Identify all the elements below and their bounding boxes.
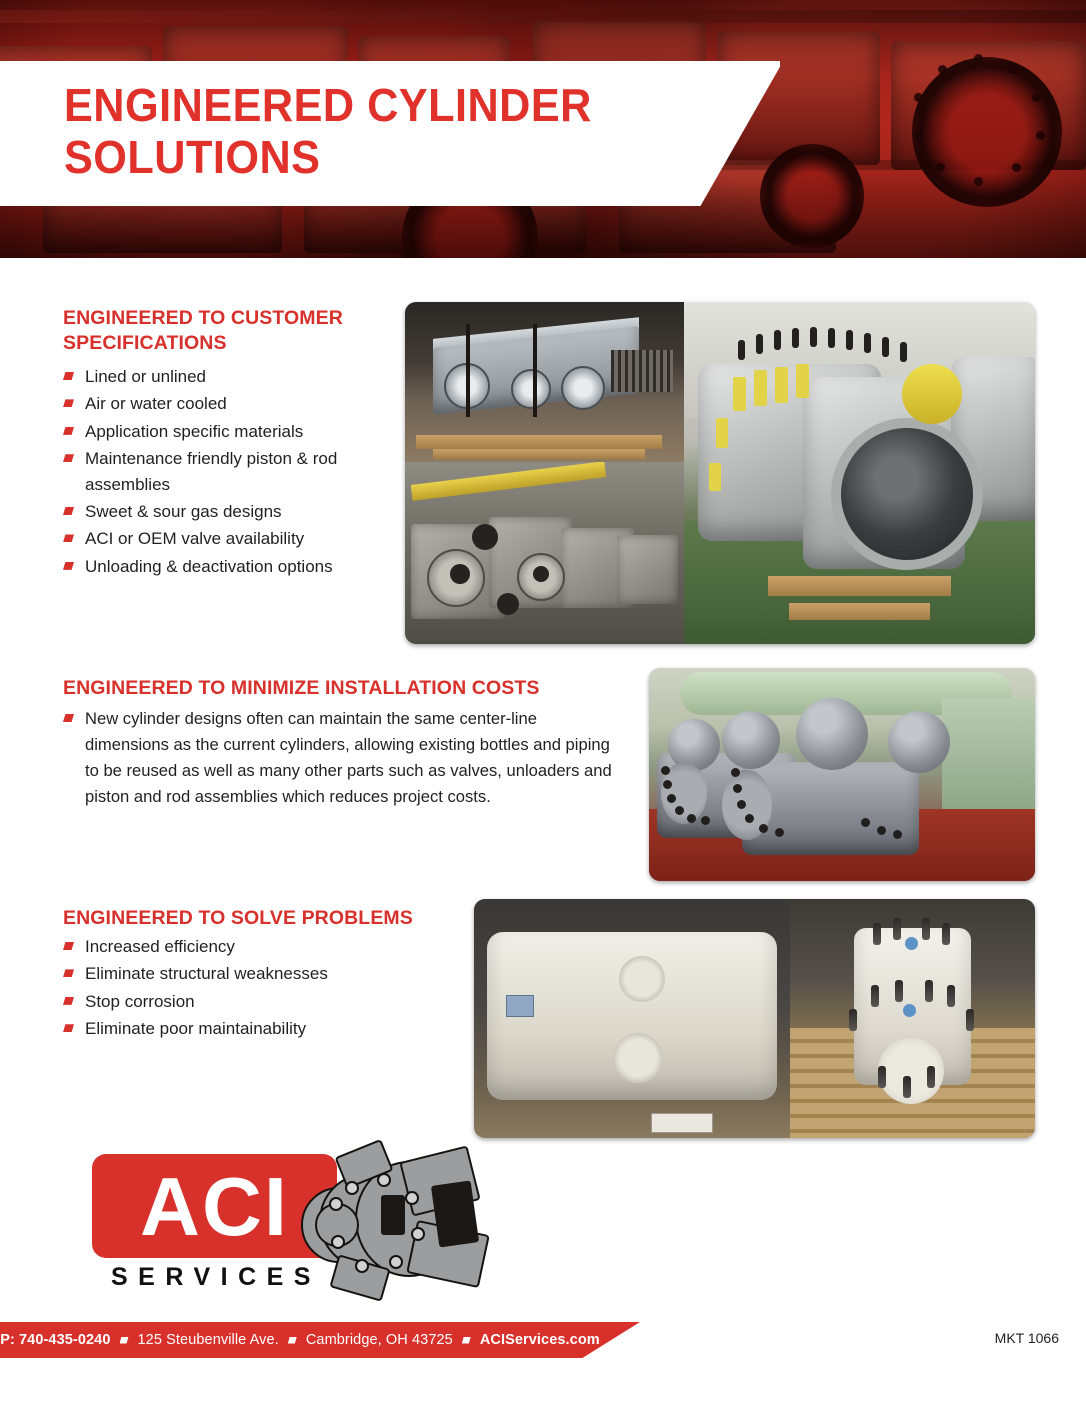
section-3-heading: ENGINEERED TO SOLVE PROBLEMS	[63, 906, 533, 931]
list-item-label: Unloading & deactivation options	[85, 557, 333, 576]
footer-contact-info: P: 740-435-0240 125 Steubenville Ave. Ca…	[0, 1322, 600, 1358]
footer-separator-icon	[288, 1337, 297, 1344]
page-title-line-1: ENGINEERED CYLINDER	[64, 79, 703, 131]
list-item: Unloading & deactivation options	[63, 554, 383, 579]
list-item-label: New cylinder designs often can maintain …	[85, 709, 612, 806]
bullet-marker-icon	[63, 399, 74, 407]
section-2-bullet-list: New cylinder designs often can maintain …	[63, 706, 618, 812]
photo-compressor-cylinders-installed	[649, 668, 1035, 881]
footer-city-state-zip: Cambridge, OH 43725	[306, 1332, 453, 1348]
list-item: New cylinder designs often can maintain …	[63, 706, 618, 810]
bullet-marker-icon	[63, 997, 74, 1005]
list-item-label: Eliminate poor maintainability	[85, 1019, 306, 1038]
page-header: ENGINEERED CYLINDER SOLUTIONS	[0, 0, 1086, 258]
bullet-marker-icon	[63, 1024, 74, 1032]
photo-white-cylinder-side-view	[474, 899, 790, 1138]
section-1-bullet-list: Lined or unlined Air or water cooled App…	[63, 364, 383, 581]
list-item: Sweet & sour gas designs	[63, 499, 383, 524]
list-item-label: Sweet & sour gas designs	[85, 502, 282, 521]
logo-compressor-illustration	[285, 1135, 490, 1303]
list-item: ACI or OEM valve availability	[63, 526, 383, 551]
list-item-label: Increased efficiency	[85, 937, 235, 956]
list-item-label: Application specific materials	[85, 422, 303, 441]
footer-separator-icon	[462, 1337, 471, 1344]
list-item-label: Stop corrosion	[85, 992, 195, 1011]
list-item-label: Maintenance friendly piston & rod assemb…	[85, 449, 337, 493]
section-1-heading-line-1: ENGINEERED TO CUSTOMER	[63, 306, 403, 331]
footer-street: 125 Steubenville Ave.	[138, 1332, 279, 1348]
section-1-heading-line-2: SPECIFICATIONS	[63, 331, 403, 356]
photo-large-cylinder-yellow-covers	[684, 302, 1035, 644]
bullet-marker-icon	[63, 454, 74, 462]
footer-website-link[interactable]: ACIServices.com	[480, 1332, 600, 1348]
section-2-heading: ENGINEERED TO MINIMIZE INSTALLATION COST…	[63, 676, 663, 701]
bullet-marker-icon	[63, 534, 74, 542]
bullet-marker-icon	[63, 942, 74, 950]
list-item: Air or water cooled	[63, 391, 383, 416]
bullet-marker-icon	[63, 507, 74, 515]
photo-machined-valve-bodies	[405, 462, 684, 644]
list-item: Eliminate structural weaknesses	[63, 961, 403, 986]
footer-separator-icon	[120, 1337, 129, 1344]
document-code: MKT 1066	[995, 1330, 1059, 1346]
list-item: Eliminate poor maintainability	[63, 1016, 403, 1041]
section-3-photo-collage	[474, 899, 1035, 1138]
list-item-label: ACI or OEM valve availability	[85, 529, 304, 548]
section-1-heading: ENGINEERED TO CUSTOMER SPECIFICATIONS	[63, 306, 403, 356]
aci-services-logo: ACI SERVICES	[70, 1135, 490, 1310]
bullet-marker-icon	[63, 714, 74, 722]
bullet-marker-icon	[63, 372, 74, 380]
bullet-marker-icon	[63, 562, 74, 570]
list-item: Maintenance friendly piston & rod assemb…	[63, 446, 383, 497]
list-item-label: Eliminate structural weaknesses	[85, 964, 328, 983]
list-item-label: Air or water cooled	[85, 394, 227, 413]
photo-white-cylinder-end-view	[790, 899, 1035, 1138]
list-item-label: Lined or unlined	[85, 367, 206, 386]
title-banner: ENGINEERED CYLINDER SOLUTIONS	[0, 61, 780, 206]
section-2-photo	[649, 668, 1035, 881]
list-item: Application specific materials	[63, 419, 383, 444]
list-item: Increased efficiency	[63, 934, 403, 959]
bullet-marker-icon	[63, 969, 74, 977]
footer-phone: P: 740-435-0240	[0, 1332, 110, 1348]
page-title-line-2: SOLUTIONS	[64, 131, 703, 183]
photo-cylinder-assembly-on-pallet	[405, 302, 684, 462]
bullet-marker-icon	[63, 427, 74, 435]
section-3-bullet-list: Increased efficiency Eliminate structura…	[63, 934, 403, 1044]
list-item: Lined or unlined	[63, 364, 383, 389]
list-item: Stop corrosion	[63, 989, 403, 1014]
section-1-photo-collage	[405, 302, 1035, 644]
